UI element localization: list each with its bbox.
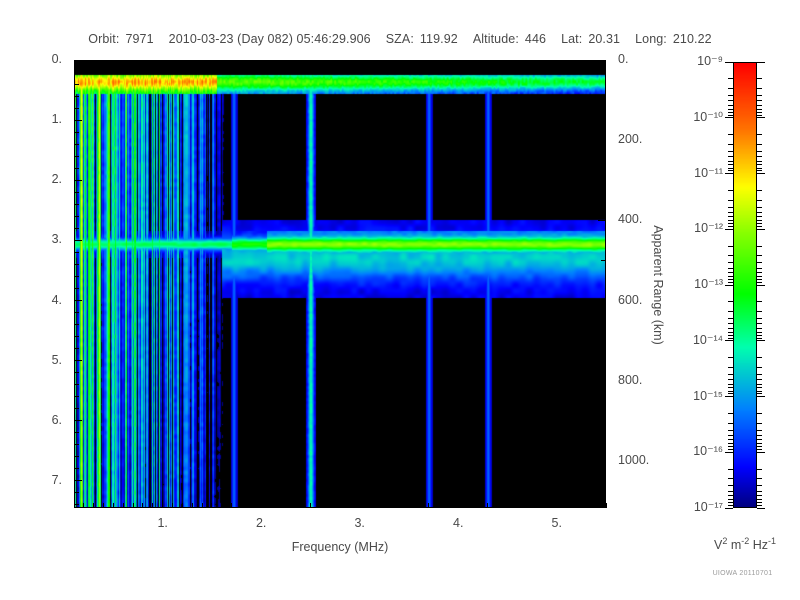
y-major-tick	[74, 300, 82, 301]
colorbar-minor-tick	[728, 495, 733, 496]
x-minor-tick	[241, 503, 242, 508]
colorbar-minor-tick	[757, 387, 762, 388]
colorbar-minor-tick	[728, 112, 733, 113]
colorbar-minor-tick	[757, 262, 762, 263]
colorbar-tick-label: 10⁻¹⁴	[669, 332, 723, 347]
y-minor-tick	[74, 276, 79, 277]
colorbar-minor-tick	[757, 112, 762, 113]
x-minor-tick	[596, 503, 597, 508]
y-major-tick	[74, 480, 82, 481]
x-minor-tick	[231, 503, 232, 508]
x-axis-title: Frequency (MHz)	[74, 540, 606, 554]
colorbar-major-tick	[725, 285, 733, 286]
x-minor-tick	[300, 503, 301, 508]
colorbar-minor-tick	[757, 170, 762, 171]
y-minor-tick	[74, 144, 79, 145]
colorbar-minor-tick	[757, 469, 762, 470]
colorbar-minor-tick	[728, 144, 733, 145]
colorbar-minor-tick	[757, 367, 762, 368]
colorbar-minor-tick	[757, 100, 762, 101]
colorbar-minor-tick	[757, 379, 762, 380]
x-minor-tick	[566, 503, 567, 508]
plot-header: Orbit: 7971 2010-03-23 (Day 082) 05:46:2…	[0, 30, 800, 48]
colorbar-tick-label: 10⁻¹⁷	[669, 499, 723, 514]
x-tick-label: 3.	[346, 516, 374, 530]
x-minor-tick	[280, 503, 281, 508]
colorbar-minor-tick	[728, 226, 733, 227]
y-minor-tick	[74, 168, 79, 169]
y-minor-tick	[74, 324, 79, 325]
colorbar-minor-tick	[757, 95, 762, 96]
colorbar-minor-tick	[728, 323, 733, 324]
colorbar-major-tick	[757, 117, 765, 118]
colorbar-minor-tick	[728, 338, 733, 339]
colorbar-minor-tick	[757, 502, 762, 503]
colorbar-minor-tick	[757, 485, 762, 486]
colorbar-minor-tick	[728, 200, 733, 201]
x-minor-tick	[320, 503, 321, 508]
colorbar-minor-tick	[728, 443, 733, 444]
watermark: UIOWA 20110701	[690, 570, 795, 577]
colorbar-minor-tick	[728, 255, 733, 256]
y-major-tick	[74, 420, 82, 421]
unit-exp-3: -1	[768, 536, 776, 546]
y-minor-tick	[74, 468, 79, 469]
colorbar-minor-tick	[728, 78, 733, 79]
x-minor-tick	[546, 503, 547, 508]
y2-tick-label: 200.	[618, 132, 642, 146]
colorbar-minor-tick	[728, 134, 733, 135]
colorbar-minor-tick	[728, 374, 733, 375]
y-minor-tick	[74, 252, 79, 253]
x-minor-tick	[507, 503, 508, 508]
x-minor-tick	[389, 503, 390, 508]
colorbar-minor-tick	[728, 268, 733, 269]
colorbar-major-tick	[757, 452, 765, 453]
colorbar-major-tick	[757, 508, 765, 509]
y-minor-tick	[74, 492, 79, 493]
colorbar-minor-tick	[728, 207, 733, 208]
x-minor-tick	[497, 503, 498, 508]
colorbar-minor-tick	[728, 387, 733, 388]
colorbar-tick-label: 10⁻¹²	[669, 220, 723, 235]
colorbar-major-tick	[757, 396, 765, 397]
colorbar-minor-tick	[728, 491, 733, 492]
colorbar-minor-tick	[728, 446, 733, 447]
x-major-tick	[359, 500, 360, 508]
colorbar-minor-tick	[757, 495, 762, 496]
colorbar-minor-tick	[728, 216, 733, 217]
colorbar-minor-tick	[728, 332, 733, 333]
colorbar-minor-tick	[728, 88, 733, 89]
x-minor-tick	[172, 503, 173, 508]
x-tick-label: 2.	[247, 516, 275, 530]
colorbar	[733, 62, 757, 508]
x-minor-tick	[527, 503, 528, 508]
y-tick-label: 6.	[0, 413, 62, 427]
colorbar-minor-tick	[728, 301, 733, 302]
colorbar-minor-tick	[757, 212, 762, 213]
y2-major-tick	[598, 220, 606, 221]
colorbar-minor-tick	[757, 446, 762, 447]
y-minor-tick	[74, 96, 79, 97]
y-minor-tick	[74, 288, 79, 289]
x-minor-tick	[468, 503, 469, 508]
y-minor-tick	[74, 132, 79, 133]
y2-axis-title: Apparent Range (km)	[651, 210, 665, 360]
x-minor-tick	[192, 503, 193, 508]
colorbar-minor-tick	[728, 282, 733, 283]
colorbar-minor-tick	[728, 164, 733, 165]
y2-tick-label: 600.	[618, 293, 642, 307]
colorbar-minor-tick	[728, 115, 733, 116]
colorbar-minor-tick	[728, 435, 733, 436]
colorbar-tick-label: 10⁻¹³	[669, 276, 723, 291]
x-minor-tick	[271, 503, 272, 508]
colorbar-minor-tick	[757, 276, 762, 277]
colorbar-major-tick	[725, 508, 733, 509]
colorbar-minor-tick	[757, 200, 762, 201]
colorbar-minor-tick	[757, 105, 762, 106]
colorbar-minor-tick	[757, 220, 762, 221]
altitude-value: 446	[525, 32, 546, 46]
y2-major-tick	[598, 380, 606, 381]
colorbar-minor-tick	[728, 276, 733, 277]
y-tick-label: 2.	[0, 172, 62, 186]
x-minor-tick	[517, 503, 518, 508]
spectrogram-canvas	[74, 60, 606, 508]
y-minor-tick	[74, 228, 79, 229]
x-minor-tick	[369, 503, 370, 508]
x-minor-tick	[83, 503, 84, 508]
y2-tick-label: 1000.	[618, 453, 649, 467]
x-minor-tick	[103, 503, 104, 508]
x-major-tick	[162, 500, 163, 508]
colorbar-minor-tick	[728, 478, 733, 479]
y2-tick-label: 400.	[618, 212, 642, 226]
colorbar-minor-tick	[757, 268, 762, 269]
x-major-tick	[556, 500, 557, 508]
observation-datetime: 2010-03-23 (Day 082) 05:46:29.906	[169, 32, 371, 46]
colorbar-minor-tick	[757, 328, 762, 329]
x-tick-label: 1.	[149, 516, 177, 530]
colorbar-major-tick	[725, 452, 733, 453]
x-minor-tick	[418, 503, 419, 508]
x-minor-tick	[133, 503, 134, 508]
colorbar-minor-tick	[728, 499, 733, 500]
colorbar-minor-tick	[757, 255, 762, 256]
colorbar-border	[733, 62, 757, 508]
x-minor-tick	[152, 503, 153, 508]
x-minor-tick	[182, 503, 183, 508]
colorbar-minor-tick	[757, 272, 762, 273]
colorbar-major-tick	[725, 62, 733, 63]
colorbar-minor-tick	[728, 393, 733, 394]
x-minor-tick	[113, 503, 114, 508]
y-minor-tick	[74, 372, 79, 373]
colorbar-minor-tick	[757, 374, 762, 375]
colorbar-minor-tick	[757, 282, 762, 283]
colorbar-major-tick	[757, 229, 765, 230]
colorbar-major-tick	[757, 340, 765, 341]
sza-value: 119.92	[420, 32, 458, 46]
colorbar-minor-tick	[757, 384, 762, 385]
colorbar-minor-tick	[757, 207, 762, 208]
colorbar-minor-tick	[757, 223, 762, 224]
x-minor-tick	[93, 503, 94, 508]
colorbar-minor-tick	[757, 332, 762, 333]
colorbar-minor-tick	[757, 115, 762, 116]
colorbar-minor-tick	[728, 357, 733, 358]
x-minor-tick	[448, 503, 449, 508]
colorbar-minor-tick	[757, 109, 762, 110]
y-tick-label: 5.	[0, 353, 62, 367]
x-minor-tick	[576, 503, 577, 508]
colorbar-minor-tick	[728, 311, 733, 312]
y-minor-tick	[74, 84, 79, 85]
y2-minor-tick	[601, 501, 606, 502]
colorbar-minor-tick	[757, 413, 762, 414]
y2-major-tick	[598, 461, 606, 462]
colorbar-minor-tick	[728, 439, 733, 440]
colorbar-minor-tick	[728, 318, 733, 319]
y-major-tick	[74, 360, 82, 361]
y-minor-tick	[74, 336, 79, 337]
orbit-label: Orbit:	[88, 32, 119, 46]
y-minor-tick	[74, 192, 79, 193]
colorbar-minor-tick	[728, 379, 733, 380]
x-minor-tick	[310, 503, 311, 508]
colorbar-minor-tick	[728, 485, 733, 486]
colorbar-major-tick	[725, 340, 733, 341]
colorbar-minor-tick	[728, 469, 733, 470]
x-minor-tick	[142, 503, 143, 508]
colorbar-minor-tick	[728, 190, 733, 191]
colorbar-minor-tick	[728, 449, 733, 450]
colorbar-minor-tick	[728, 223, 733, 224]
colorbar-minor-tick	[757, 449, 762, 450]
y2-major-tick	[598, 140, 606, 141]
colorbar-minor-tick	[757, 78, 762, 79]
colorbar-minor-tick	[728, 505, 733, 506]
colorbar-minor-tick	[757, 156, 762, 157]
y-tick-label: 0.	[0, 52, 62, 66]
x-tick-label: 5.	[543, 516, 571, 530]
colorbar-minor-tick	[728, 220, 733, 221]
colorbar-minor-tick	[757, 164, 762, 165]
y-minor-tick	[74, 444, 79, 445]
colorbar-minor-tick	[757, 190, 762, 191]
x-minor-tick	[438, 503, 439, 508]
colorbar-unit-label: V2 m-2 Hz-1	[690, 536, 800, 552]
colorbar-minor-tick	[728, 279, 733, 280]
y2-minor-tick	[601, 420, 606, 421]
colorbar-minor-tick	[728, 423, 733, 424]
x-minor-tick	[251, 503, 252, 508]
y-major-tick	[74, 240, 82, 241]
colorbar-major-tick	[725, 117, 733, 118]
colorbar-major-tick	[725, 396, 733, 397]
x-minor-tick	[330, 503, 331, 508]
colorbar-minor-tick	[757, 439, 762, 440]
colorbar-minor-tick	[728, 151, 733, 152]
y-minor-tick	[74, 156, 79, 157]
y-major-tick	[74, 120, 82, 121]
y-minor-tick	[74, 264, 79, 265]
y2-minor-tick	[601, 260, 606, 261]
colorbar-minor-tick	[757, 161, 762, 162]
colorbar-minor-tick	[728, 413, 733, 414]
colorbar-minor-tick	[728, 156, 733, 157]
x-minor-tick	[290, 503, 291, 508]
unit-hz: Hz	[749, 538, 768, 552]
colorbar-minor-tick	[728, 328, 733, 329]
y-minor-tick	[74, 456, 79, 457]
colorbar-minor-tick	[757, 435, 762, 436]
colorbar-minor-tick	[728, 170, 733, 171]
colorbar-minor-tick	[757, 430, 762, 431]
x-minor-tick	[74, 503, 75, 508]
x-minor-tick	[340, 503, 341, 508]
colorbar-minor-tick	[757, 391, 762, 392]
x-minor-tick	[349, 503, 350, 508]
x-tick-label: 4.	[444, 516, 472, 530]
orbit-value: 7971	[125, 32, 153, 46]
colorbar-minor-tick	[757, 151, 762, 152]
y-major-tick	[74, 60, 82, 61]
long-value: 210.22	[673, 32, 712, 46]
x-minor-tick	[408, 503, 409, 508]
colorbar-minor-tick	[757, 338, 762, 339]
x-major-tick	[261, 500, 262, 508]
unit-m: m	[727, 538, 741, 552]
colorbar-minor-tick	[728, 95, 733, 96]
colorbar-major-tick	[725, 229, 733, 230]
lat-label: Lat:	[561, 32, 582, 46]
long-label: Long:	[635, 32, 667, 46]
colorbar-major-tick	[757, 62, 765, 63]
colorbar-minor-tick	[757, 279, 762, 280]
colorbar-tick-label: 10⁻¹⁰	[669, 109, 723, 124]
colorbar-tick-label: 10⁻¹⁶	[669, 443, 723, 458]
colorbar-major-tick	[757, 173, 765, 174]
y-major-tick	[74, 180, 82, 181]
x-minor-tick	[487, 503, 488, 508]
colorbar-minor-tick	[728, 161, 733, 162]
y2-major-tick	[598, 60, 606, 61]
x-minor-tick	[221, 503, 222, 508]
y-tick-label: 4.	[0, 293, 62, 307]
colorbar-minor-tick	[728, 430, 733, 431]
colorbar-minor-tick	[757, 357, 762, 358]
y2-minor-tick	[601, 340, 606, 341]
colorbar-minor-tick	[728, 335, 733, 336]
y2-tick-label: 0.	[618, 52, 628, 66]
colorbar-minor-tick	[757, 88, 762, 89]
colorbar-minor-tick	[757, 505, 762, 506]
colorbar-minor-tick	[757, 134, 762, 135]
sza-label: SZA:	[386, 32, 414, 46]
colorbar-minor-tick	[728, 367, 733, 368]
colorbar-tick-label: 10⁻¹⁵	[669, 388, 723, 403]
x-minor-tick	[399, 503, 400, 508]
y2-major-tick	[598, 300, 606, 301]
y-minor-tick	[74, 312, 79, 313]
colorbar-minor-tick	[757, 311, 762, 312]
colorbar-minor-tick	[757, 323, 762, 324]
y2-tick-label: 800.	[618, 373, 642, 387]
colorbar-minor-tick	[728, 109, 733, 110]
colorbar-minor-tick	[728, 168, 733, 169]
x-minor-tick	[123, 503, 124, 508]
x-major-tick	[458, 500, 459, 508]
y-minor-tick	[74, 108, 79, 109]
x-minor-tick	[606, 503, 607, 508]
y-minor-tick	[74, 72, 79, 73]
colorbar-minor-tick	[757, 499, 762, 500]
colorbar-minor-tick	[757, 216, 762, 217]
colorbar-minor-tick	[728, 100, 733, 101]
colorbar-minor-tick	[728, 246, 733, 247]
y-minor-tick	[74, 216, 79, 217]
x-minor-tick	[477, 503, 478, 508]
colorbar-minor-tick	[728, 502, 733, 503]
x-minor-tick	[428, 503, 429, 508]
colorbar-minor-tick	[757, 168, 762, 169]
x-minor-tick	[586, 503, 587, 508]
x-minor-tick	[211, 503, 212, 508]
x-minor-tick	[379, 503, 380, 508]
colorbar-minor-tick	[757, 491, 762, 492]
colorbar-minor-tick	[757, 393, 762, 394]
ionogram-plot-area	[74, 60, 606, 508]
colorbar-tick-label: 10⁻⁹	[669, 53, 723, 68]
y-minor-tick	[74, 204, 79, 205]
colorbar-minor-tick	[757, 478, 762, 479]
x-minor-tick	[202, 503, 203, 508]
y-minor-tick	[74, 432, 79, 433]
colorbar-minor-tick	[728, 262, 733, 263]
colorbar-minor-tick	[757, 246, 762, 247]
y-tick-label: 3.	[0, 232, 62, 246]
altitude-label: Altitude:	[473, 32, 519, 46]
colorbar-minor-tick	[757, 443, 762, 444]
y-minor-tick	[74, 396, 79, 397]
colorbar-minor-tick	[728, 212, 733, 213]
y-minor-tick	[74, 504, 79, 505]
y-minor-tick	[74, 384, 79, 385]
colorbar-minor-tick	[728, 391, 733, 392]
colorbar-minor-tick	[757, 226, 762, 227]
colorbar-minor-tick	[757, 423, 762, 424]
y-minor-tick	[74, 348, 79, 349]
y2-minor-tick	[601, 180, 606, 181]
y-tick-label: 1.	[0, 112, 62, 126]
y-tick-label: 7.	[0, 473, 62, 487]
colorbar-minor-tick	[728, 105, 733, 106]
colorbar-minor-tick	[728, 272, 733, 273]
colorbar-minor-tick	[728, 384, 733, 385]
y-minor-tick	[74, 408, 79, 409]
y2-minor-tick	[601, 100, 606, 101]
colorbar-minor-tick	[757, 144, 762, 145]
colorbar-tick-label: 10⁻¹¹	[669, 165, 723, 180]
x-minor-tick	[537, 503, 538, 508]
colorbar-minor-tick	[757, 301, 762, 302]
colorbar-minor-tick	[757, 335, 762, 336]
colorbar-major-tick	[725, 173, 733, 174]
colorbar-major-tick	[757, 285, 765, 286]
